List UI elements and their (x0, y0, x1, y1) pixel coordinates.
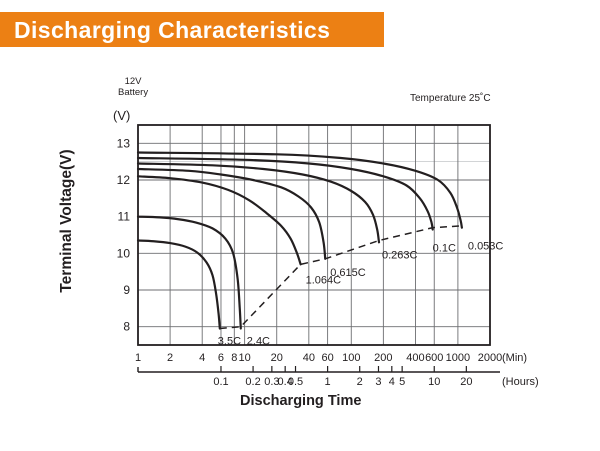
x-tick-label-minutes: 10 (239, 352, 251, 364)
rate-label-0.263C: 0.263C (382, 249, 418, 261)
x-tick-label-minutes: 2000 (478, 352, 502, 364)
x-tick-label-minutes: 6 (218, 352, 224, 364)
hours-unit-label: (Hours) (502, 376, 539, 388)
curve-rate-labels: 3.5C2.4C1.064C0.615C0.263C0.1C0.053C (218, 241, 504, 348)
x-tick-label-minutes: 100 (342, 352, 360, 364)
x-tick-label-hours: 5 (399, 376, 405, 388)
x-tick-label-minutes: 60 (321, 352, 333, 364)
x-tick-label-minutes: 400 (406, 352, 424, 364)
rate-label-0.615C: 0.615C (330, 267, 366, 279)
x-tick-label-hours: 4 (389, 376, 395, 388)
x-tick-label-minutes: 20 (271, 352, 283, 364)
curve-0.263C (138, 164, 379, 243)
x-tick-label-minutes: 600 (425, 352, 443, 364)
temperature-label: Temperature 25˚C (410, 93, 491, 104)
battery-voltage-text: 12V (118, 76, 148, 87)
axis-ticks (138, 366, 500, 372)
x-tick-label-hours: 0.2 (245, 376, 260, 388)
discharge-chart: 12V Battery (V) Temperature 25˚C Termina… (0, 0, 600, 451)
x-tick-label-minutes: 4 (199, 352, 205, 364)
rate-label-3.5C: 3.5C (218, 336, 241, 348)
x-tick-label-hours: 2 (357, 376, 363, 388)
y-tick-label: 8 (123, 320, 130, 334)
x-tick-label-minutes: 1000 (446, 352, 470, 364)
x-axis-title: Discharging Time (240, 393, 361, 409)
minutes-unit-label: (Min) (502, 352, 527, 364)
curve-1.064C (138, 176, 301, 264)
x-tick-label-hours: 10 (428, 376, 440, 388)
battery-word-text: Battery (118, 87, 148, 98)
curve-0.615C (138, 169, 325, 259)
battery-type-label: 12V Battery (118, 76, 148, 98)
x-tick-label-hours: 1 (325, 376, 331, 388)
y-tick-label: 13 (117, 136, 131, 150)
x-tick-label-hours: 0.1 (213, 376, 228, 388)
discharge-curves (138, 153, 462, 329)
y-tick-label: 11 (118, 210, 131, 224)
x-tick-label-minutes: 200 (374, 352, 392, 364)
x-tick-label-minutes: 2 (167, 352, 173, 364)
y-axis-title: Terminal Voltage(V) (58, 131, 76, 311)
rate-label-0.053C: 0.053C (468, 241, 504, 253)
rate-label-0.1C: 0.1C (433, 243, 456, 255)
y-tick-label: 12 (117, 173, 131, 187)
x-tick-label-hours: 0.5 (288, 376, 303, 388)
plot-canvas: 1312111098124681020406010020040060010002… (0, 0, 600, 451)
y-tick-label: 10 (117, 246, 131, 260)
x-tick-label-minutes: 1 (135, 352, 141, 364)
x-tick-label-minutes: 40 (303, 352, 315, 364)
voltage-unit-label: (V) (113, 108, 130, 123)
x-tick-label-hours: 3 (375, 376, 381, 388)
x-tick-label-minutes: 8 (231, 352, 237, 364)
y-tick-label: 9 (123, 283, 130, 297)
rate-label-2.4C: 2.4C (247, 336, 270, 348)
x-tick-label-hours: 20 (460, 376, 472, 388)
curve-2.4C (138, 217, 241, 329)
